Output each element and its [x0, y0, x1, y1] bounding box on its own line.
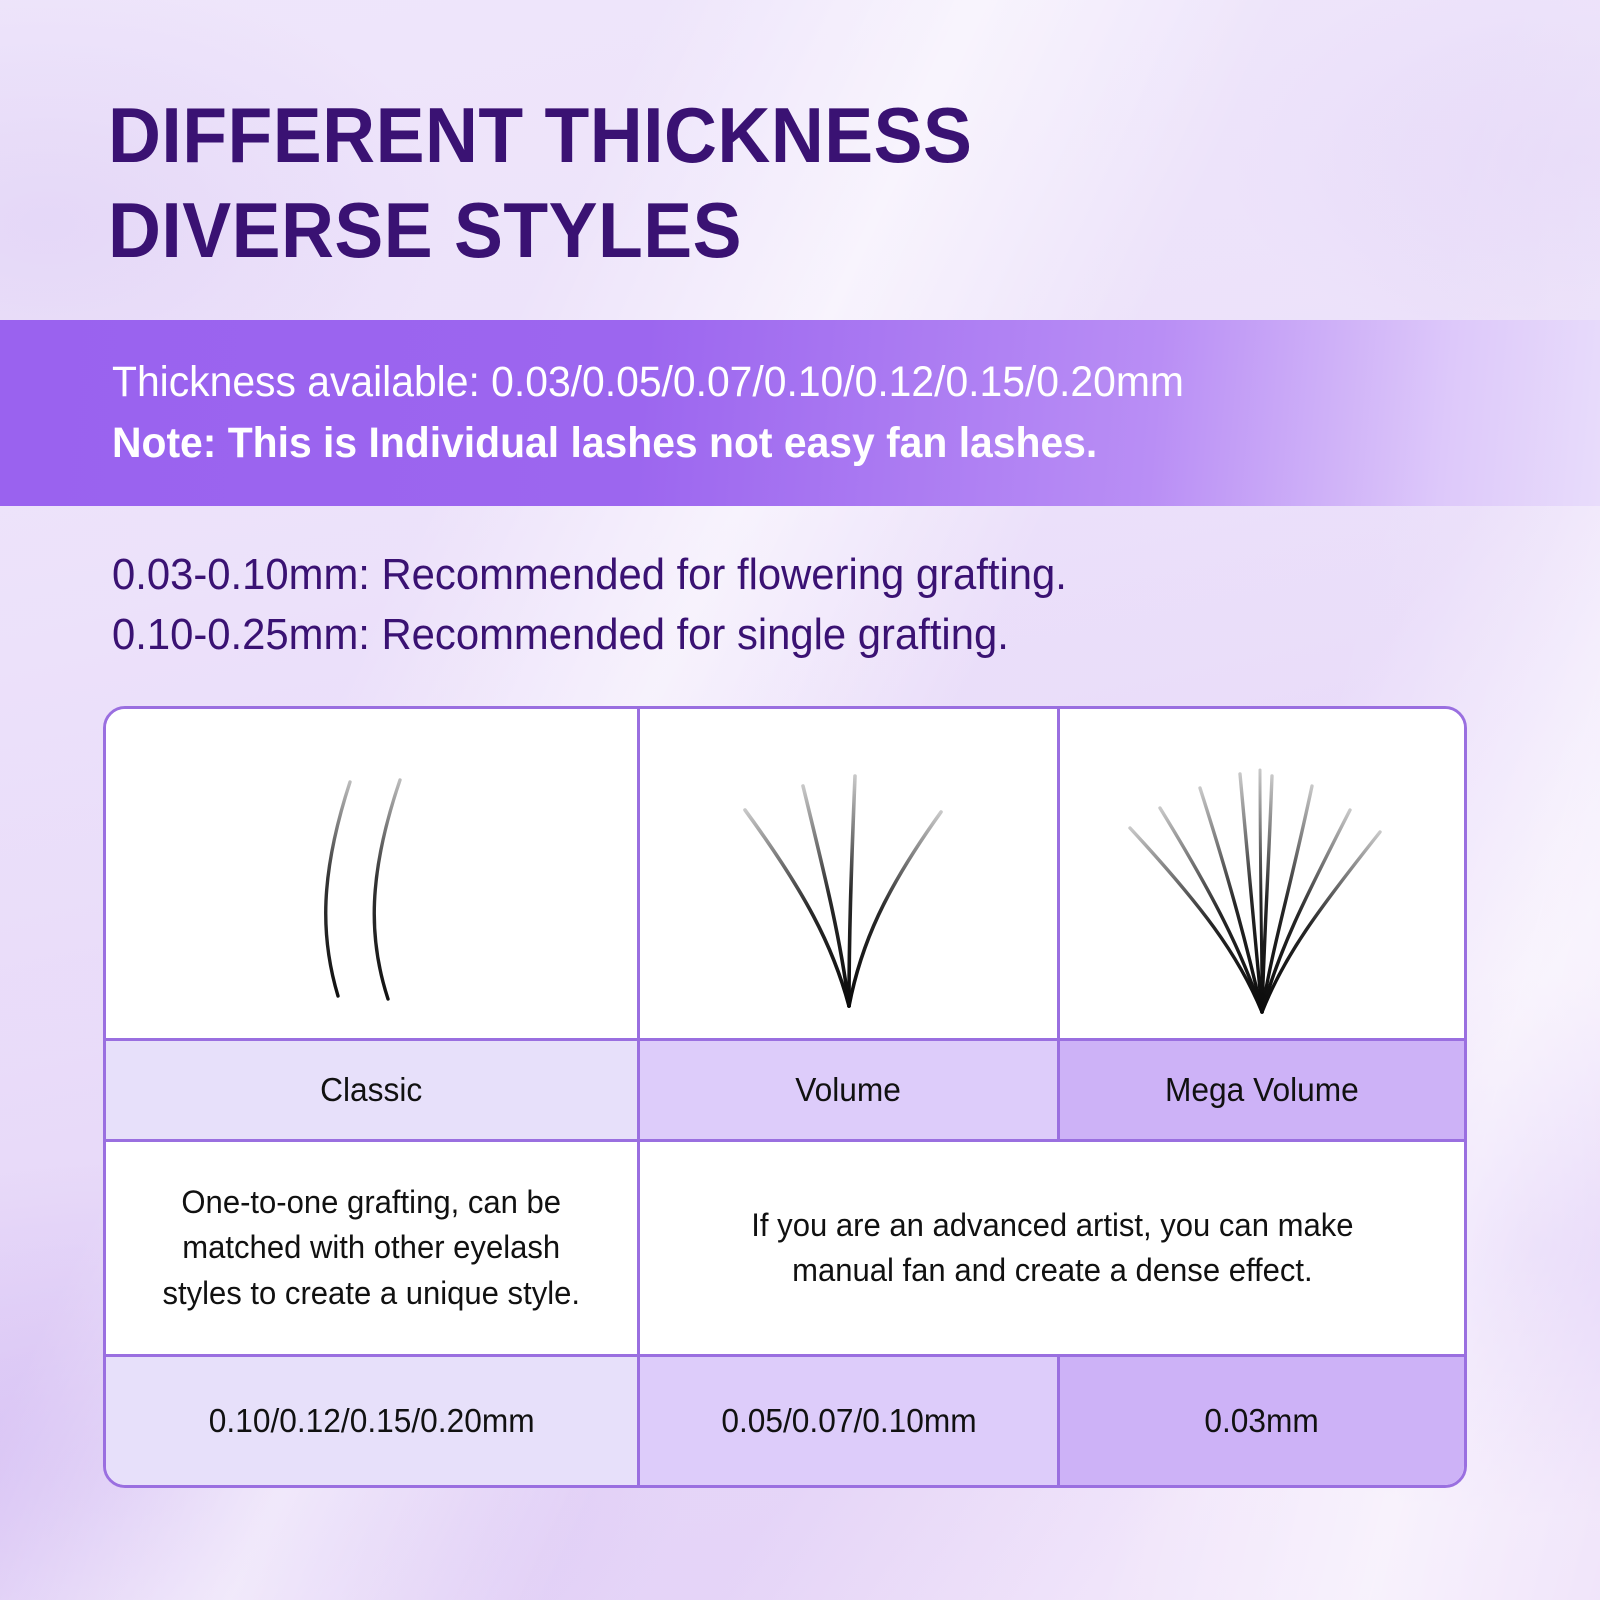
note-text: Note: This is Individual lashes not easy…	[112, 413, 1526, 474]
recommendation-flowering: 0.03-0.10mm: Recommended for flowering g…	[112, 545, 1347, 605]
header-label-mega-volume: Mega Volume	[1165, 1071, 1359, 1109]
header-cell-classic: Classic	[106, 1041, 640, 1139]
thickness-banner: Thickness available: 0.03/0.05/0.07/0.10…	[0, 320, 1600, 506]
table-row-headers: Classic Volume Mega Volume	[106, 1041, 1464, 1142]
mega-volume-fan-icon	[1112, 724, 1412, 1024]
table-row-illustrations	[106, 709, 1464, 1041]
description-cell-volume-mega: If you are an advanced artist, you can m…	[640, 1142, 1464, 1354]
classic-lash-icon	[222, 724, 522, 1024]
size-label-mega-volume: 0.03mm	[1205, 1402, 1319, 1440]
table-row-descriptions: One-to-one grafting, can be matched with…	[106, 1142, 1464, 1357]
recommendation-single: 0.10-0.25mm: Recommended for single graf…	[112, 605, 1347, 665]
infographic-page: DIFFERENT THICKNESS DIVERSE STYLES Thick…	[0, 0, 1600, 1600]
description-cell-classic: One-to-one grafting, can be matched with…	[106, 1142, 640, 1354]
thickness-available-text: Thickness available: 0.03/0.05/0.07/0.10…	[112, 352, 1526, 413]
header-cell-volume: Volume	[640, 1041, 1060, 1139]
size-label-volume: 0.05/0.07/0.10mm	[721, 1402, 976, 1440]
size-label-classic: 0.10/0.12/0.15/0.20mm	[209, 1402, 535, 1440]
description-text-volume-mega: If you are an advanced artist, you can m…	[726, 1203, 1379, 1294]
recommendation-list: 0.03-0.10mm: Recommended for flowering g…	[112, 545, 1412, 665]
size-cell-volume: 0.05/0.07/0.10mm	[640, 1357, 1060, 1485]
page-title: DIFFERENT THICKNESS DIVERSE STYLES	[108, 88, 1274, 278]
classic-lash-cell	[106, 709, 640, 1038]
description-text-classic: One-to-one grafting, can be matched with…	[138, 1180, 606, 1316]
header-cell-mega-volume: Mega Volume	[1060, 1041, 1464, 1139]
header-label-volume: Volume	[796, 1071, 902, 1109]
volume-fan-icon	[709, 724, 989, 1024]
lash-comparison-table: Classic Volume Mega Volume One-to-one gr…	[103, 706, 1467, 1488]
size-cell-mega-volume: 0.03mm	[1060, 1357, 1464, 1485]
size-cell-classic: 0.10/0.12/0.15/0.20mm	[106, 1357, 640, 1485]
table-row-sizes: 0.10/0.12/0.15/0.20mm 0.05/0.07/0.10mm 0…	[106, 1357, 1464, 1485]
volume-lash-cell	[640, 709, 1060, 1038]
mega-volume-lash-cell	[1060, 709, 1464, 1038]
header-label-classic: Classic	[320, 1071, 422, 1109]
